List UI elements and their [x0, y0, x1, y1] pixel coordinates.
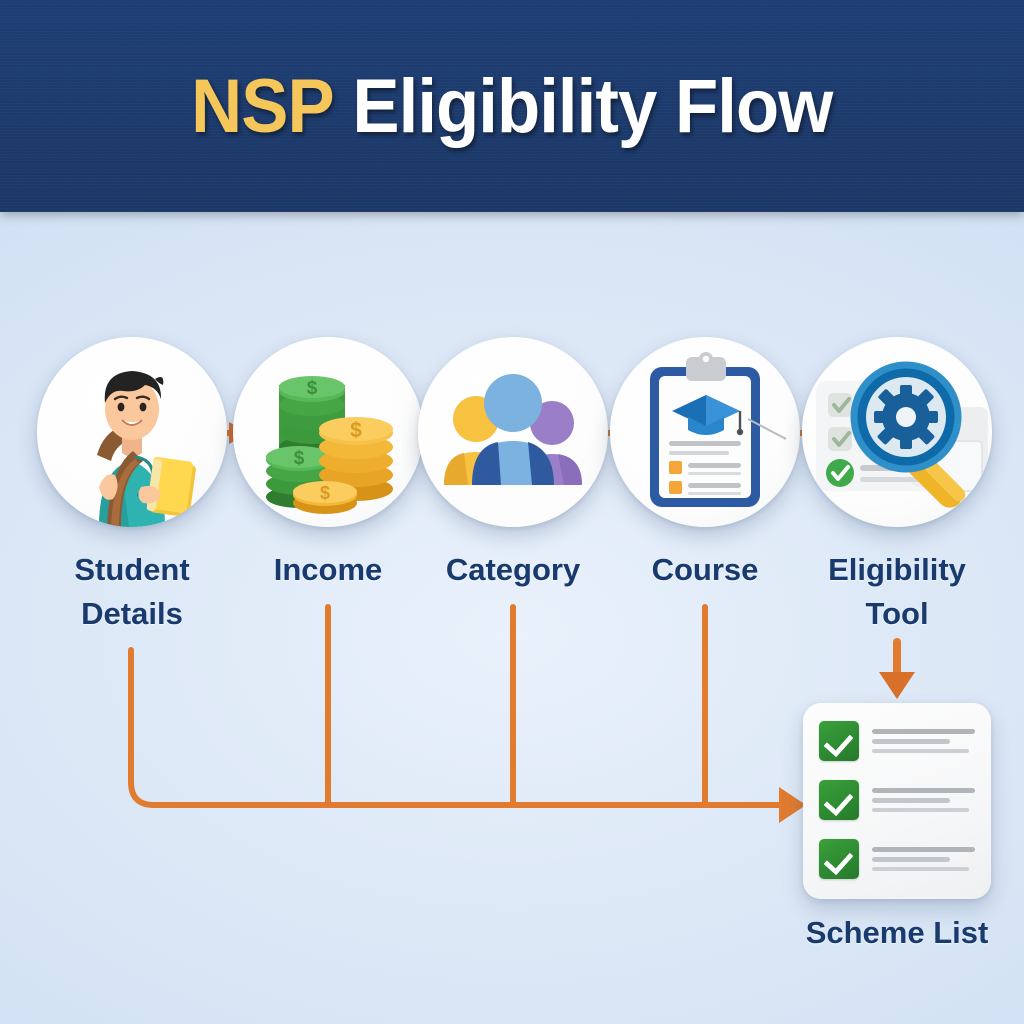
svg-text:$: $	[307, 378, 318, 399]
page-title-rest: Eligibility Flow	[353, 64, 833, 149]
flow-step-category[interactable]	[418, 337, 608, 527]
page-title-accent: NSP	[191, 64, 334, 149]
list-item-lines	[872, 847, 975, 871]
list-item-lines	[872, 729, 975, 753]
text-line	[872, 749, 969, 753]
arrow-right-icon-bus	[779, 787, 806, 823]
flow-step-label-eligibility-tool: Eligibility Tool	[782, 548, 1012, 636]
text-line	[872, 808, 969, 812]
list-item-lines	[872, 788, 975, 812]
svg-text:$: $	[350, 419, 362, 442]
people-group-icon	[418, 337, 608, 527]
text-line	[872, 857, 950, 862]
flow-step-income[interactable]: $ $ $	[233, 337, 423, 527]
student-icon	[37, 337, 227, 527]
text-line	[872, 729, 975, 734]
list-item	[819, 839, 975, 879]
branch-line-student	[131, 650, 782, 805]
magnifier-gear-icon	[802, 337, 992, 527]
scheme-list-label: Scheme List	[783, 915, 1011, 951]
flow-step-student[interactable]	[37, 337, 227, 527]
text-line	[872, 739, 950, 744]
text-line	[872, 847, 975, 852]
text-line	[872, 798, 950, 803]
checklist-card-icon[interactable]	[803, 703, 991, 899]
result-line	[893, 638, 901, 680]
list-item	[819, 780, 975, 820]
svg-text:$: $	[294, 448, 305, 469]
clipboard-graduation-icon	[610, 337, 800, 527]
text-line	[872, 867, 969, 871]
svg-text:$: $	[320, 483, 330, 503]
check-icon	[819, 721, 859, 761]
infographic-canvas: NSP Eligibility Flow	[0, 0, 1024, 1024]
flow-step-course[interactable]	[610, 337, 800, 527]
arrow-down-icon	[879, 672, 915, 699]
flow-step-eligibility-tool[interactable]	[802, 337, 992, 527]
list-item	[819, 721, 975, 761]
check-icon	[819, 839, 859, 879]
header-banner: NSP Eligibility Flow	[0, 0, 1024, 212]
coins-icon: $ $ $	[233, 337, 423, 527]
text-line	[872, 788, 975, 793]
page-title: NSP Eligibility Flow	[191, 63, 832, 150]
check-icon	[819, 780, 859, 820]
